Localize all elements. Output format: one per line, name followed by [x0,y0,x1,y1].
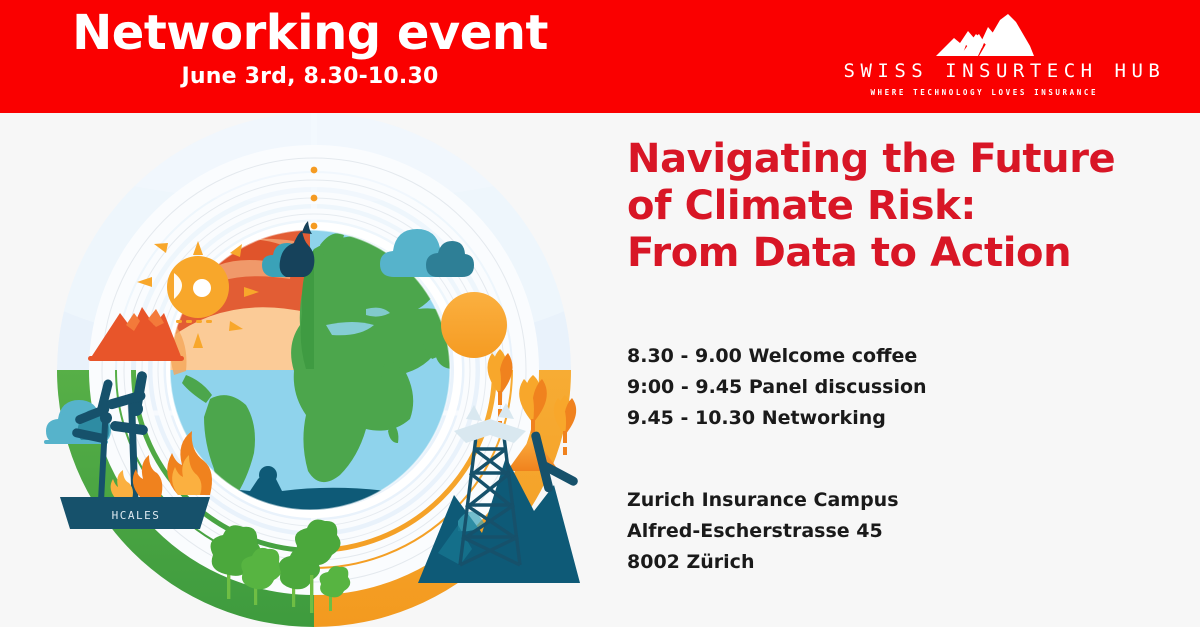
sun-disc-icon [441,292,507,358]
agenda-item: 8.30 - 9.00 Welcome coffee [627,341,1147,372]
page-title: Navigating the Future of Climate Risk: F… [627,136,1147,278]
event-datetime: June 3rd, 8.30-10.30 [0,64,620,89]
agenda-list: 8.30 - 9.00 Welcome coffee 9:00 - 9.45 P… [627,341,1147,434]
venue-line: Alfred-Escherstrasse 45 [627,516,1147,547]
mountain-icon [924,12,1042,58]
banner-text-group: Networking event June 3rd, 8.30-10.30 [0,8,620,89]
logo-tagline: WHERE TECHNOLOGY LOVES INSURANCE [838,88,1128,97]
event-details-column: Navigating the Future of Climate Risk: F… [627,136,1147,578]
climate-illustration: HCALES [14,113,614,627]
brand-logo: SWISS INSURTECH HUB WHERE TECHNOLOGY LOV… [838,12,1128,104]
venue-line: Zurich Insurance Campus [627,485,1147,516]
event-title: Networking event [0,8,620,58]
page-title-line-3: From Data to Action [627,230,1147,277]
agenda-item: 9:00 - 9.45 Panel discussion [627,372,1147,403]
venue-line: 8002 Zürich [627,547,1147,578]
logo-wordmark: SWISS INSURTECH HUB [838,60,1128,82]
header-banner: Networking event June 3rd, 8.30-10.30 SW… [0,0,1200,113]
venue-address: Zurich Insurance Campus Alfred-Escherstr… [627,485,1147,578]
base-label: HCALES [112,509,161,522]
page-title-line-1: Navigating the Future [627,136,1147,183]
agenda-item: 9.45 - 10.30 Networking [627,403,1147,434]
page-title-line-2: of Climate Risk: [627,183,1147,230]
